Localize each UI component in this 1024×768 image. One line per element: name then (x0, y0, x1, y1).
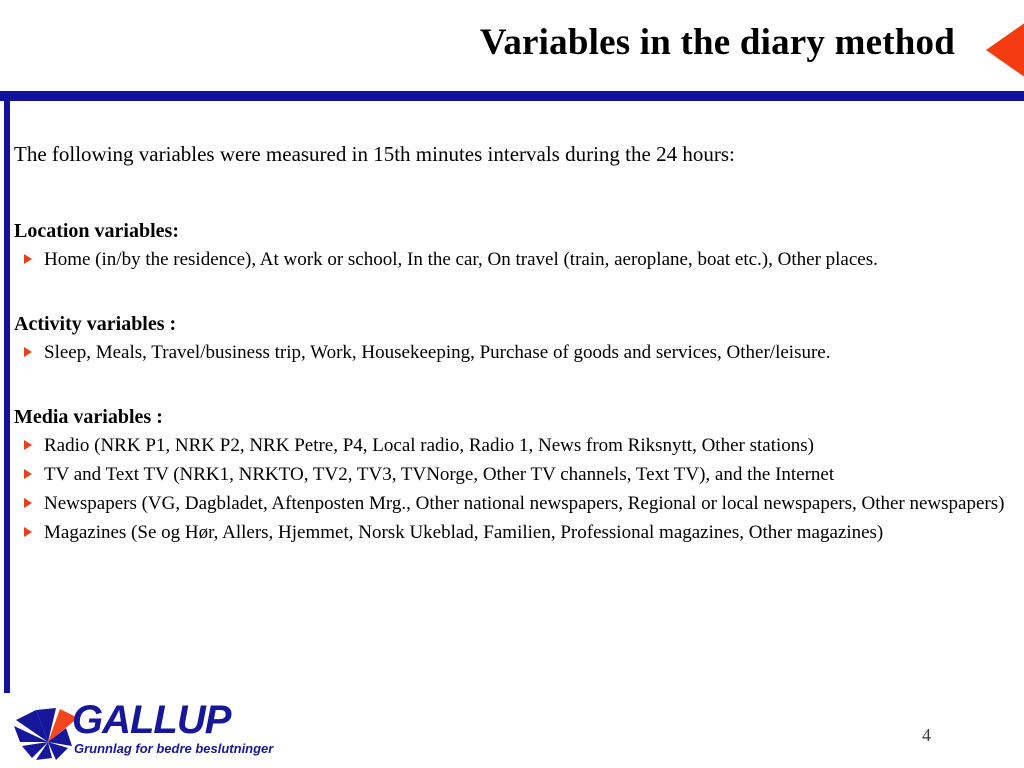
section-heading: Location variables: (14, 219, 1014, 243)
slide-number: 4 (922, 724, 931, 746)
slide-header: Variables in the diary method (0, 0, 1024, 91)
list-item: Home (in/by the residence), At work or s… (14, 247, 1014, 272)
section-media-variables: Media variables : Radio (NRK P1, NRK P2,… (14, 405, 1014, 545)
triangle-bullet-icon (24, 347, 32, 357)
gallup-wordmark: GALLUP (72, 700, 230, 740)
bullet-list: Sleep, Meals, Travel/business trip, Work… (14, 340, 1014, 365)
list-item: TV and Text TV (NRK1, NRKTO, TV2, TV3, T… (14, 462, 1014, 487)
list-item-text: TV and Text TV (NRK1, NRKTO, TV2, TV3, T… (44, 462, 1014, 487)
page-title: Variables in the diary method (480, 21, 955, 65)
gallup-pinwheel-icon (10, 698, 80, 760)
section-location-variables: Location variables: Home (in/by the resi… (14, 219, 1014, 272)
triangle-bullet-icon (24, 527, 32, 537)
list-item: Sleep, Meals, Travel/business trip, Work… (14, 340, 1014, 365)
triangle-bullet-icon (24, 440, 32, 450)
list-item: Radio (NRK P1, NRK P2, NRK Petre, P4, Lo… (14, 433, 1014, 458)
gallup-tagline: Grunnlag for bedre beslutninger (74, 742, 273, 756)
triangle-bullet-icon (24, 254, 32, 264)
slide-body: The following variables were measured in… (14, 131, 1014, 549)
list-item-text: Magazines (Se og Hør, Allers, Hjemmet, N… (44, 520, 1014, 545)
list-item: Newspapers (VG, Dagbladet, Aftenposten M… (14, 491, 1014, 516)
header-divider (0, 91, 1024, 101)
list-item-text: Radio (NRK P1, NRK P2, NRK Petre, P4, Lo… (44, 433, 1014, 458)
gallup-logo: GALLUP Grunnlag for bedre beslutninger (10, 698, 280, 760)
intro-text: The following variables were measured in… (14, 141, 1014, 167)
section-heading: Activity variables : (14, 312, 1014, 336)
triangle-bullet-icon (24, 469, 32, 479)
list-item-text: Sleep, Meals, Travel/business trip, Work… (44, 340, 1014, 365)
list-item: Magazines (Se og Hør, Allers, Hjemmet, N… (14, 520, 1014, 545)
triangle-bullet-icon (24, 498, 32, 508)
bullet-list: Radio (NRK P1, NRK P2, NRK Petre, P4, Lo… (14, 433, 1014, 545)
bullet-list: Home (in/by the residence), At work or s… (14, 247, 1014, 272)
list-item-text: Home (in/by the residence), At work or s… (44, 247, 1014, 272)
section-activity-variables: Activity variables : Sleep, Meals, Trave… (14, 312, 1014, 365)
left-arrow-icon (986, 22, 1024, 78)
section-heading: Media variables : (14, 405, 1014, 429)
list-item-text: Newspapers (VG, Dagbladet, Aftenposten M… (44, 491, 1014, 516)
left-accent-bar (4, 101, 10, 693)
